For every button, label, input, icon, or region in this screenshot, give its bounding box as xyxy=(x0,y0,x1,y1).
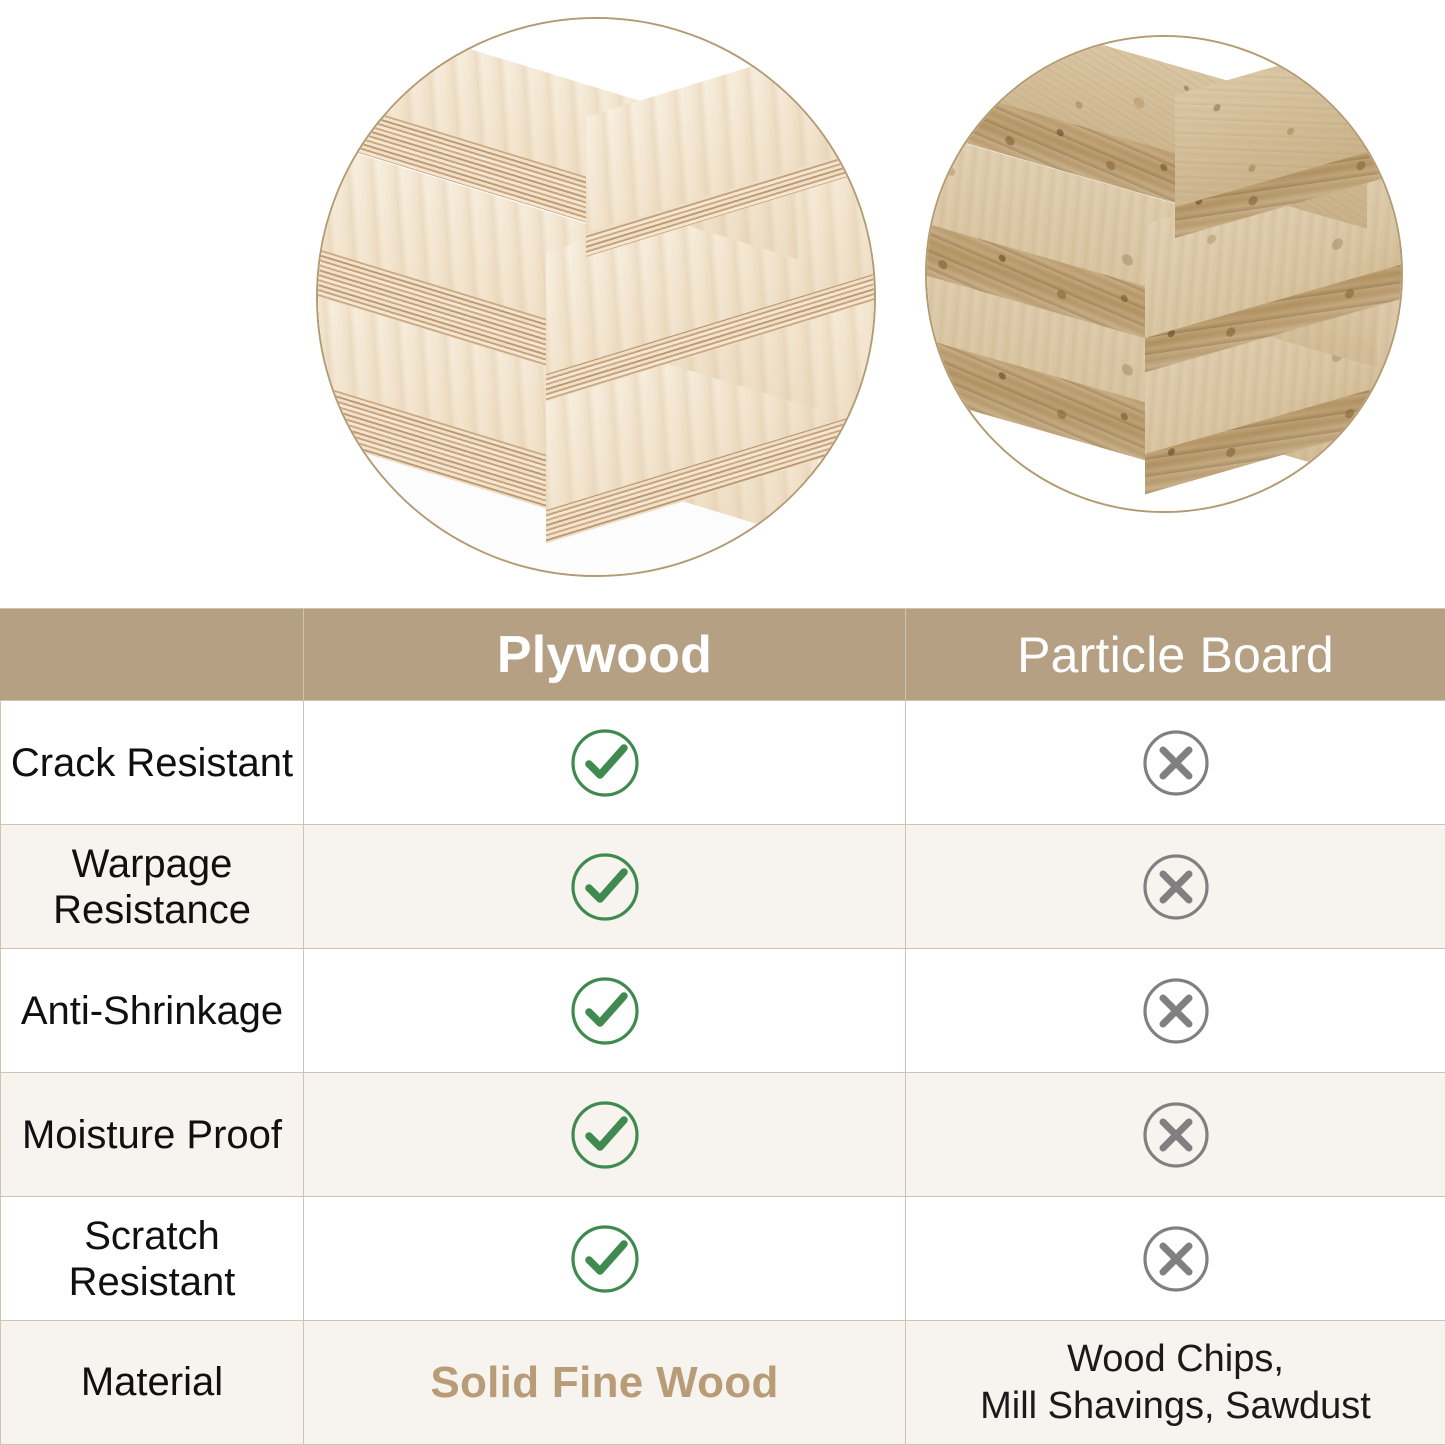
feature-label-warpage-resistance: Warpage Resistance xyxy=(1,825,304,949)
particle-board-mark-scratch-resistant xyxy=(906,1197,1445,1321)
photo-band xyxy=(0,0,1445,608)
plywood-mark-scratch-resistant xyxy=(304,1197,906,1321)
material-line-1: Wood Chips, xyxy=(906,1336,1445,1382)
feature-label-scratch-resistant: Scratch Resistant xyxy=(1,1197,304,1321)
table-row: Crack Resistant xyxy=(1,701,1445,825)
check-circle-icon xyxy=(567,1221,643,1297)
table-header: Plywood Particle Board xyxy=(1,609,1445,701)
particle-board-photo xyxy=(925,35,1403,513)
plywood-photo-content xyxy=(318,19,874,575)
particle-board-mark-moisture-proof xyxy=(906,1073,1445,1197)
table-row: Moisture Proof xyxy=(1,1073,1445,1197)
particle-board-mark-anti-shrinkage xyxy=(906,949,1445,1073)
check-circle-icon xyxy=(567,849,643,925)
header-cell-particle-board: Particle Board xyxy=(906,609,1445,701)
header-label-plywood: Plywood xyxy=(497,626,712,684)
plywood-material-value: Solid Fine Wood xyxy=(304,1321,906,1445)
cross-circle-icon xyxy=(1140,851,1212,923)
feature-label-material: Material xyxy=(1,1321,304,1445)
cross-circle-icon xyxy=(1140,1099,1212,1171)
header-cell-plywood: Plywood xyxy=(304,609,906,701)
check-circle-icon xyxy=(567,973,643,1049)
particle-board-mark-warpage-resistance xyxy=(906,825,1445,949)
cross-circle-icon xyxy=(1140,975,1212,1047)
plywood-mark-warpage-resistance xyxy=(304,825,906,949)
comparison-infographic: Plywood Particle Board Crack Resistant xyxy=(0,0,1445,1445)
table-row: Scratch Resistant xyxy=(1,1197,1445,1321)
comparison-table: Plywood Particle Board Crack Resistant xyxy=(0,608,1445,1445)
feature-label-crack-resistant: Crack Resistant xyxy=(1,701,304,825)
particle-board-photo-content xyxy=(927,37,1401,511)
material-line-2: Mill Shavings, Sawdust xyxy=(906,1383,1445,1429)
table-row: Anti-Shrinkage xyxy=(1,949,1445,1073)
plywood-mark-crack-resistant xyxy=(304,701,906,825)
check-circle-icon xyxy=(567,725,643,801)
particle-board-mark-crack-resistant xyxy=(906,701,1445,825)
table-row: Warpage Resistance xyxy=(1,825,1445,949)
header-row: Plywood Particle Board xyxy=(1,609,1445,701)
table-row-material: Material Solid Fine Wood Wood Chips, Mil… xyxy=(1,1321,1445,1445)
feature-label-anti-shrinkage: Anti-Shrinkage xyxy=(1,949,304,1073)
cross-circle-icon xyxy=(1140,727,1212,799)
plywood-mark-moisture-proof xyxy=(304,1073,906,1197)
plywood-photo xyxy=(316,17,876,577)
feature-line-1: Scratch Resistant xyxy=(69,1214,236,1304)
cross-circle-icon xyxy=(1140,1223,1212,1295)
table-body: Crack Resistant Warpage Res xyxy=(1,701,1445,1445)
header-cell-blank xyxy=(1,609,304,701)
feature-label-moisture-proof: Moisture Proof xyxy=(1,1073,304,1197)
particle-board-material-value: Wood Chips, Mill Shavings, Sawdust xyxy=(906,1321,1445,1445)
plywood-mark-anti-shrinkage xyxy=(304,949,906,1073)
feature-line-1: Warpage Resistance xyxy=(53,842,251,932)
check-circle-icon xyxy=(567,1097,643,1173)
header-label-particle-board: Particle Board xyxy=(1017,627,1334,683)
